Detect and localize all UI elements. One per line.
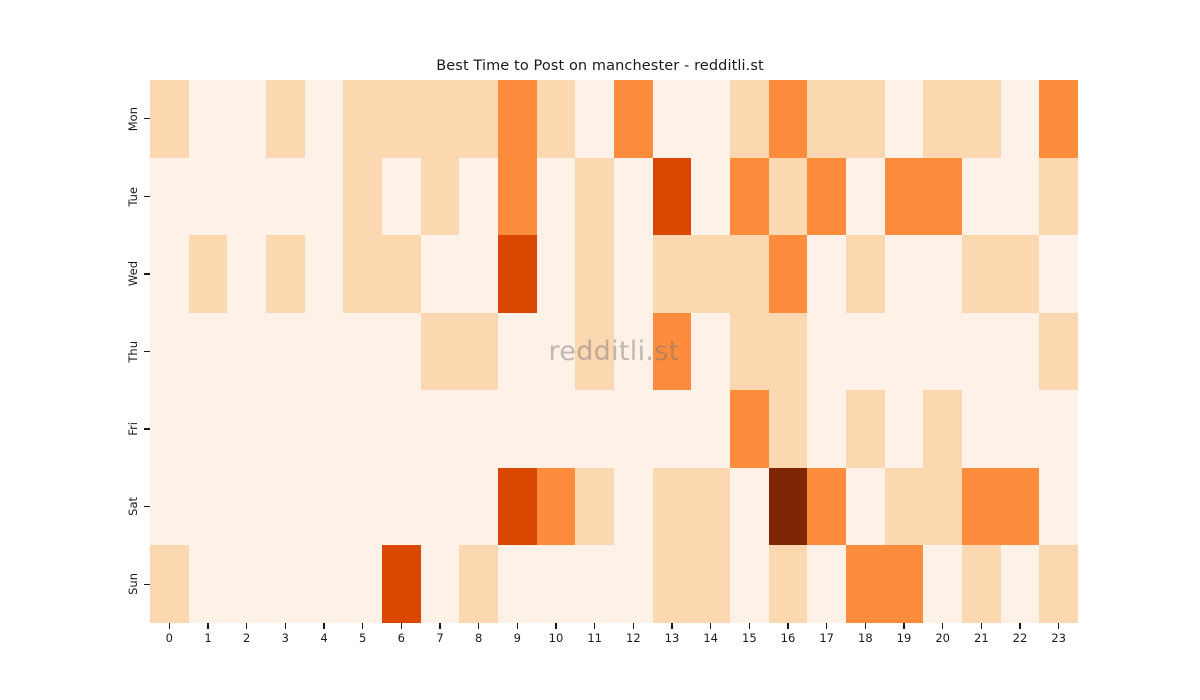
heatmap-cell (305, 545, 344, 623)
x-axis-label: 8 (475, 633, 482, 645)
heatmap-cell (1039, 468, 1078, 546)
heatmap-cell (382, 80, 421, 158)
heatmap-cell (537, 390, 576, 468)
heatmap-cell (769, 158, 808, 236)
x-tick-mark (981, 623, 982, 629)
heatmap-cell (1039, 545, 1078, 623)
heatmap-cell (885, 545, 924, 623)
x-tick-mark (826, 623, 827, 629)
x-tick-5: 5 (343, 623, 382, 645)
plot-area: redditli.st (150, 80, 1078, 623)
x-tick-mark (865, 623, 866, 629)
heatmap-cell (691, 313, 730, 391)
heatmap-cell (537, 313, 576, 391)
heatmap-cell (189, 545, 228, 623)
x-axis-label: 1 (204, 633, 211, 645)
heatmap-cell (691, 468, 730, 546)
y-axis-label: Thu (128, 341, 140, 363)
heatmap-cell (769, 313, 808, 391)
heatmap-cell (459, 468, 498, 546)
heatmap-cell (730, 390, 769, 468)
heatmap-cell (691, 80, 730, 158)
x-tick-14: 14 (691, 623, 730, 645)
heatmap-cell (614, 80, 653, 158)
x-tick-7: 7 (421, 623, 460, 645)
x-tick-20: 20 (923, 623, 962, 645)
heatmap-cell (653, 468, 692, 546)
heatmap-cell (769, 235, 808, 313)
x-axis-label: 20 (935, 633, 950, 645)
heatmap-cell (382, 235, 421, 313)
x-tick-mark (749, 623, 750, 629)
y-tick-tue: Tue (0, 158, 150, 236)
heatmap-cell (807, 390, 846, 468)
heatmap-cell (459, 545, 498, 623)
heatmap-cell (846, 80, 885, 158)
heatmap-cell (150, 468, 189, 546)
heatmap-cell (923, 313, 962, 391)
x-tick-18: 18 (846, 623, 885, 645)
x-axis-label: 22 (1013, 633, 1028, 645)
x-axis-label: 0 (166, 633, 173, 645)
y-tick-thu: Thu (0, 313, 150, 391)
heatmap-cell (343, 390, 382, 468)
heatmap-cell (382, 313, 421, 391)
heatmap-cell (575, 313, 614, 391)
y-axis-label: Fri (128, 422, 140, 436)
heatmap-cell (730, 158, 769, 236)
heatmap-cell (343, 545, 382, 623)
heatmap-cell (150, 235, 189, 313)
heatmap-cell (885, 235, 924, 313)
x-tick-mark (246, 623, 247, 629)
heatmap-cell (227, 158, 266, 236)
x-axis-label: 5 (359, 633, 366, 645)
heatmap-cell (189, 468, 228, 546)
heatmap-cell (498, 468, 537, 546)
heatmap-cell (266, 158, 305, 236)
heatmap-cell (1001, 235, 1040, 313)
x-tick-mark (169, 623, 170, 629)
heatmap-cell (1039, 80, 1078, 158)
heatmap-cell (421, 158, 460, 236)
x-tick-12: 12 (614, 623, 653, 645)
heatmap-cell (1039, 235, 1078, 313)
x-tick-mark (207, 623, 208, 629)
heatmap-cell (923, 80, 962, 158)
heatmap-cell (691, 545, 730, 623)
heatmap-cell (614, 390, 653, 468)
heatmap-cell (498, 390, 537, 468)
x-tick-mark (633, 623, 634, 629)
heatmap-cell (459, 158, 498, 236)
heatmap-cell (537, 80, 576, 158)
heatmap-cell (343, 80, 382, 158)
x-tick-mark (1019, 623, 1020, 629)
heatmap-cell (498, 235, 537, 313)
x-tick-3: 3 (266, 623, 305, 645)
x-axis-label: 2 (243, 633, 250, 645)
heatmap-cell (227, 468, 266, 546)
heatmap-cell (305, 390, 344, 468)
heatmap-cell (343, 235, 382, 313)
heatmap-cell (227, 313, 266, 391)
x-tick-10: 10 (537, 623, 576, 645)
x-axis-label: 15 (742, 633, 757, 645)
x-axis-label: 4 (320, 633, 327, 645)
x-tick-4: 4 (305, 623, 344, 645)
heatmap-cell (382, 390, 421, 468)
heatmap-cell (421, 545, 460, 623)
x-axis-label: 9 (514, 633, 521, 645)
heatmap-cell (266, 468, 305, 546)
heatmap-cell (769, 545, 808, 623)
x-tick-mark (787, 623, 788, 629)
heatmap-cell (150, 158, 189, 236)
heatmap-cell (421, 313, 460, 391)
heatmap-cell (923, 158, 962, 236)
x-tick-mark (942, 623, 943, 629)
heatmap-cell (962, 390, 1001, 468)
heatmap-cell (150, 313, 189, 391)
heatmap-cell (537, 235, 576, 313)
heatmap-cell (923, 235, 962, 313)
heatmap-cell (498, 313, 537, 391)
x-axis-label: 10 (549, 633, 564, 645)
x-axis-label: 21 (974, 633, 989, 645)
heatmap-cell (343, 313, 382, 391)
heatmap-cell (807, 235, 846, 313)
y-axis-label: Wed (128, 261, 140, 286)
x-axis-label: 11 (587, 633, 602, 645)
heatmap-cell (227, 390, 266, 468)
x-axis-label: 23 (1051, 633, 1066, 645)
heatmap-cell (691, 390, 730, 468)
heatmap-cell (150, 545, 189, 623)
heatmap-cell (807, 545, 846, 623)
heatmap-cell (653, 235, 692, 313)
heatmap-cell (575, 390, 614, 468)
x-tick-17: 17 (807, 623, 846, 645)
heatmap-cell (846, 390, 885, 468)
heatmap-cell (614, 235, 653, 313)
heatmap-cell (382, 468, 421, 546)
heatmap-cell (653, 545, 692, 623)
x-axis-label: 16 (781, 633, 796, 645)
heatmap-cell (189, 158, 228, 236)
x-axis-label: 19 (897, 633, 912, 645)
heatmap-cell (885, 390, 924, 468)
heatmap-cell (962, 313, 1001, 391)
heatmap-cell (266, 313, 305, 391)
page-title: Best Time to Post on manchester - reddit… (0, 58, 1200, 74)
x-tick-22: 22 (1001, 623, 1040, 645)
heatmap-cell (266, 235, 305, 313)
x-tick-mark (710, 623, 711, 629)
x-axis-label: 6 (398, 633, 405, 645)
heatmap-cell (575, 468, 614, 546)
heatmap-cell (807, 158, 846, 236)
heatmap-cell (846, 235, 885, 313)
x-axis: 01234567891011121314151617181920212223 (150, 623, 1078, 663)
heatmap-cell (1001, 545, 1040, 623)
heatmap-cell (769, 390, 808, 468)
x-tick-0: 0 (150, 623, 189, 645)
heatmap-cell (305, 235, 344, 313)
heatmap-cell (923, 545, 962, 623)
x-tick-mark (401, 623, 402, 629)
heatmap-cell (730, 313, 769, 391)
heatmap-cell (691, 235, 730, 313)
heatmap-cell (382, 545, 421, 623)
x-axis-label: 18 (858, 633, 873, 645)
x-tick-mark (285, 623, 286, 629)
heatmap-cell (382, 158, 421, 236)
heatmap-cell (962, 235, 1001, 313)
x-tick-23: 23 (1039, 623, 1078, 645)
y-tick-sat: Sat (0, 468, 150, 546)
y-axis-label: Sat (128, 497, 140, 516)
heatmap-cell (614, 313, 653, 391)
heatmap-cell (923, 468, 962, 546)
heatmap-cell (730, 80, 769, 158)
heatmap-cell (962, 545, 1001, 623)
x-tick-8: 8 (459, 623, 498, 645)
x-tick-1: 1 (189, 623, 228, 645)
heatmap-figure: Best Time to Post on manchester - reddit… (0, 0, 1200, 700)
heatmap-cell (730, 545, 769, 623)
y-tick-fri: Fri (0, 390, 150, 468)
heatmap-cell (1039, 158, 1078, 236)
x-tick-11: 11 (575, 623, 614, 645)
heatmap-cell (343, 468, 382, 546)
heatmap-cell (730, 235, 769, 313)
heatmap-cell (189, 390, 228, 468)
heatmap-cell (614, 545, 653, 623)
heatmap-cell (885, 468, 924, 546)
heatmap-cell (498, 158, 537, 236)
x-tick-19: 19 (885, 623, 924, 645)
x-tick-mark (594, 623, 595, 629)
heatmap-cell (189, 313, 228, 391)
x-tick-mark (555, 623, 556, 629)
x-tick-13: 13 (653, 623, 692, 645)
heatmap-cell (846, 313, 885, 391)
x-tick-mark (903, 623, 904, 629)
heatmap-cell (653, 80, 692, 158)
x-tick-mark (478, 623, 479, 629)
y-axis-label: Sun (128, 573, 140, 595)
heatmap-cell (421, 80, 460, 158)
heatmap-cell (923, 390, 962, 468)
heatmap-cell (459, 390, 498, 468)
x-tick-mark (323, 623, 324, 629)
heatmap-cell (846, 468, 885, 546)
x-tick-16: 16 (769, 623, 808, 645)
heatmap-cell (421, 390, 460, 468)
heatmap-cell (653, 390, 692, 468)
heatmap-cell (962, 468, 1001, 546)
heatmap-cell (227, 80, 266, 158)
heatmap-cell (266, 390, 305, 468)
heatmap-cell (1001, 390, 1040, 468)
x-axis-label: 17 (819, 633, 834, 645)
x-axis-label: 12 (626, 633, 641, 645)
x-tick-mark (1058, 623, 1059, 629)
heatmap-cell (1001, 80, 1040, 158)
heatmap-cell (885, 80, 924, 158)
heatmap-cell (846, 545, 885, 623)
heatmap-cell (150, 80, 189, 158)
heatmap-cell (1001, 158, 1040, 236)
heatmap-cell (1039, 313, 1078, 391)
x-tick-21: 21 (962, 623, 1001, 645)
heatmap-cell (305, 313, 344, 391)
heatmap-cell (653, 313, 692, 391)
heatmap-cell (575, 545, 614, 623)
heatmap-cell (1039, 390, 1078, 468)
heatmap-cell (343, 158, 382, 236)
heatmap-cell (691, 158, 730, 236)
heatmap-cell (537, 545, 576, 623)
heatmap-cell (962, 80, 1001, 158)
heatmap-cell (459, 235, 498, 313)
heatmap-cell (807, 468, 846, 546)
heatmap-cell (498, 545, 537, 623)
y-axis-label: Mon (128, 107, 140, 131)
x-axis-label: 7 (436, 633, 443, 645)
heatmap-cell (305, 158, 344, 236)
heatmap-cell (575, 158, 614, 236)
heatmap-cell (1001, 468, 1040, 546)
x-axis-label: 3 (282, 633, 289, 645)
heatmap-cell (537, 468, 576, 546)
x-tick-mark (671, 623, 672, 629)
heatmap-cell (885, 158, 924, 236)
y-tick-mon: Mon (0, 80, 150, 158)
heatmap-cell (769, 468, 808, 546)
x-axis-label: 13 (665, 633, 680, 645)
heatmap-cell (227, 545, 266, 623)
heatmap-cell (537, 158, 576, 236)
heatmap-cell (189, 80, 228, 158)
heatmap-cell (614, 468, 653, 546)
y-axis: MonTueWedThuFriSatSun (0, 80, 150, 623)
x-tick-15: 15 (730, 623, 769, 645)
x-tick-6: 6 (382, 623, 421, 645)
heatmap-cell (150, 390, 189, 468)
heatmap-grid (150, 80, 1078, 623)
x-axis-label: 14 (703, 633, 718, 645)
x-tick-mark (362, 623, 363, 629)
heatmap-cell (459, 313, 498, 391)
heatmap-cell (459, 80, 498, 158)
heatmap-cell (614, 158, 653, 236)
heatmap-cell (227, 235, 266, 313)
x-tick-2: 2 (227, 623, 266, 645)
heatmap-cell (421, 468, 460, 546)
heatmap-cell (575, 80, 614, 158)
y-tick-wed: Wed (0, 235, 150, 313)
x-tick-mark (517, 623, 518, 629)
heatmap-cell (498, 80, 537, 158)
heatmap-cell (730, 468, 769, 546)
heatmap-cell (305, 80, 344, 158)
heatmap-cell (807, 80, 846, 158)
heatmap-cell (266, 545, 305, 623)
heatmap-cell (962, 158, 1001, 236)
heatmap-cell (1001, 313, 1040, 391)
heatmap-cell (769, 80, 808, 158)
heatmap-cell (421, 235, 460, 313)
heatmap-cell (653, 158, 692, 236)
heatmap-cell (846, 158, 885, 236)
heatmap-cell (575, 235, 614, 313)
heatmap-cell (266, 80, 305, 158)
heatmap-cell (807, 313, 846, 391)
x-tick-mark (439, 623, 440, 629)
y-tick-sun: Sun (0, 545, 150, 623)
y-axis-label: Tue (128, 187, 140, 207)
heatmap-cell (189, 235, 228, 313)
x-tick-9: 9 (498, 623, 537, 645)
heatmap-cell (305, 468, 344, 546)
heatmap-cell (885, 313, 924, 391)
